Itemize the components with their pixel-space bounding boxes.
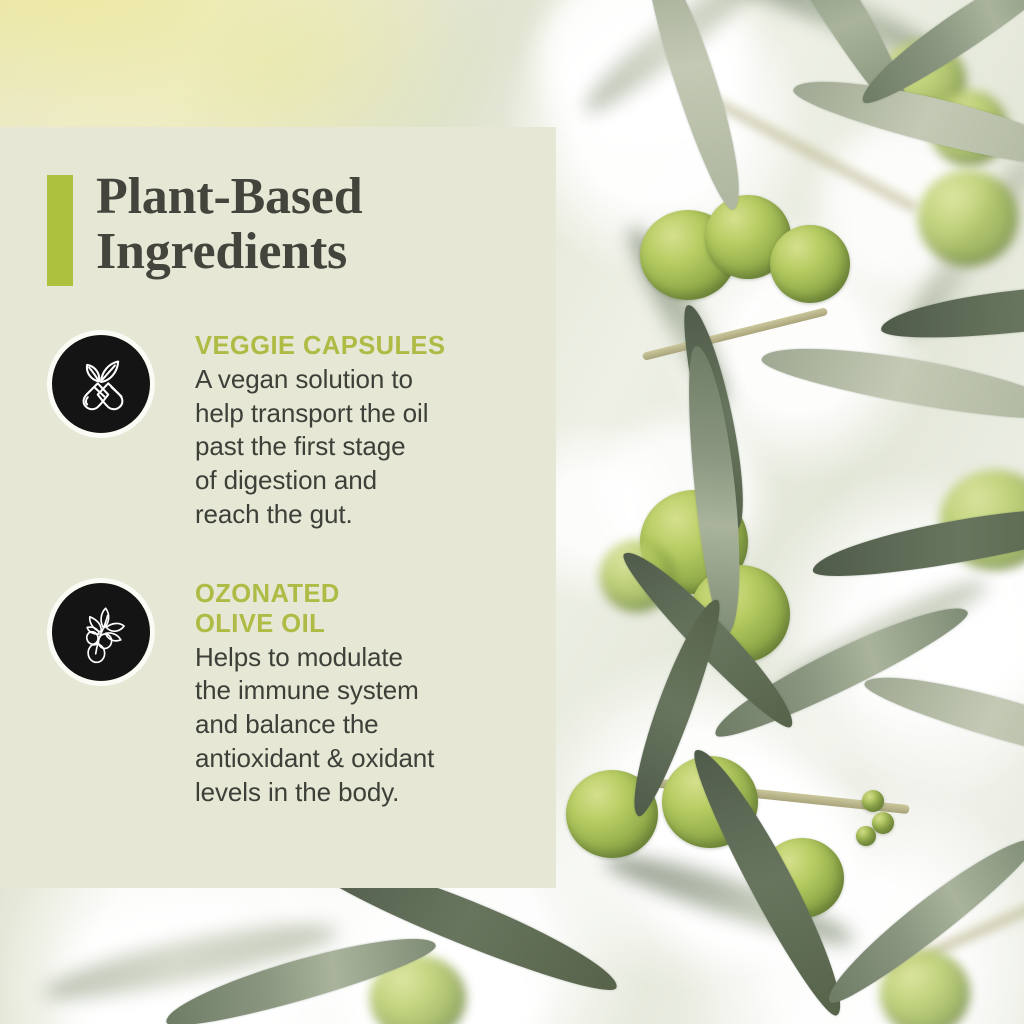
veggie-capsules-icon — [47, 330, 155, 438]
ingredient-heading: VEGGIE CAPSULES — [195, 332, 525, 362]
ingredient-body: A vegan solution to help transport the o… — [195, 363, 525, 532]
ingredient-text-block: OZONATED OLIVE OIL Helps to modulate the… — [195, 578, 525, 810]
accent-bar — [47, 175, 73, 286]
ingredients-panel: Plant-Based Ingredients — [0, 127, 556, 888]
ingredient-text-block: VEGGIE CAPSULES A vegan solution to help… — [195, 330, 525, 532]
panel-title-row: Plant-Based Ingredients — [47, 175, 362, 286]
ingredient-item-ozonated-olive-oil: OZONATED OLIVE OIL Helps to modulate the… — [47, 578, 525, 810]
promo-graphic: Plant-Based Ingredients — [0, 0, 1024, 1024]
ingredient-heading: OZONATED OLIVE OIL — [195, 580, 525, 640]
page-title: Plant-Based Ingredients — [96, 169, 362, 279]
olive-branch-icon — [47, 578, 155, 686]
ingredient-item-veggie-capsules: VEGGIE CAPSULES A vegan solution to help… — [47, 330, 525, 532]
ingredient-body: Helps to modulate the immune system and … — [195, 641, 525, 810]
